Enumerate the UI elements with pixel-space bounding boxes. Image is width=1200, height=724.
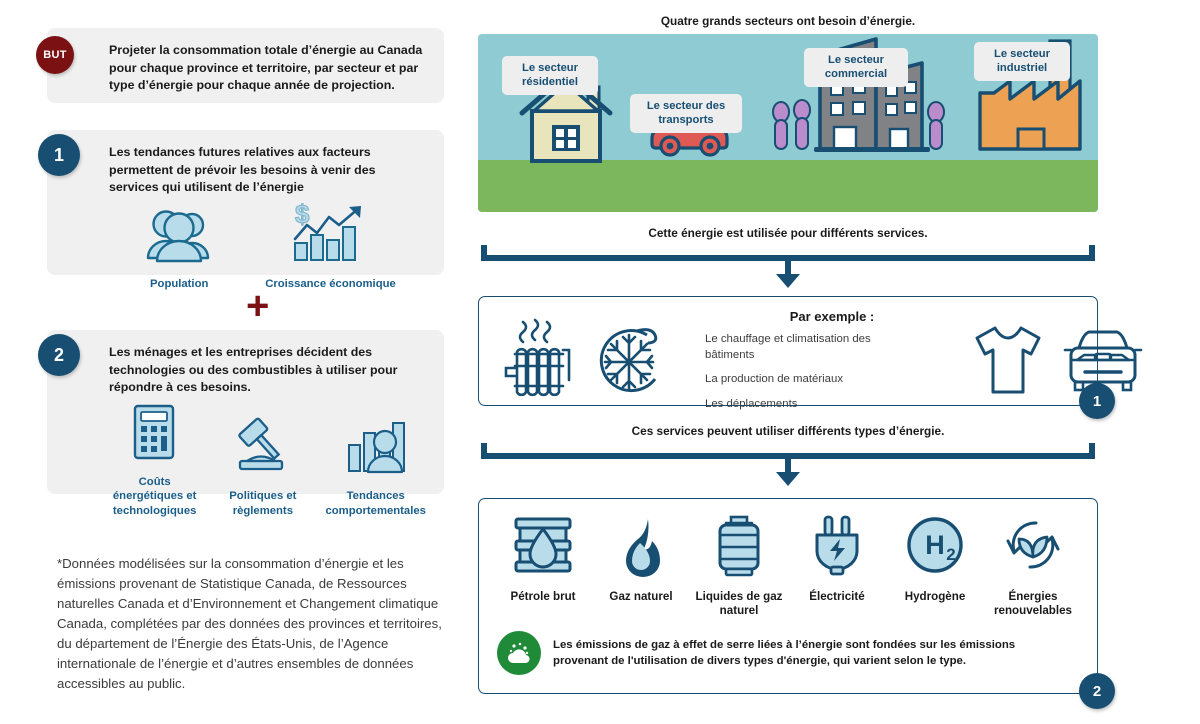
growth-caption: Croissance économique	[265, 277, 396, 291]
step2-icon-policy: Politiques et règlements	[220, 415, 305, 518]
tshirt-icon	[965, 316, 1051, 405]
step2-badge-label: 2	[54, 345, 64, 366]
sectors-caption: Quatre grands secteurs ont besoin d’éner…	[478, 14, 1098, 29]
sector-tag-industrial: Le secteur industriel	[974, 42, 1070, 81]
step1-badge-label: 1	[54, 145, 64, 166]
energy-caption: Ces services peuvent utiliser différents…	[478, 424, 1098, 439]
step2-icon-costs: Coûts énergétiques et technologiques	[109, 401, 200, 518]
costs-caption: Coûts énergétiques et technologiques	[109, 475, 200, 518]
svg-text:2: 2	[946, 545, 955, 564]
policy-caption: Politiques et règlements	[220, 489, 305, 518]
emissions-cloud-icon	[505, 639, 533, 667]
connector-1	[478, 242, 1098, 290]
example-list: Le chauffage et climatisation des bâtime…	[705, 332, 959, 412]
right-column: Quatre grands secteurs ont besoin d’éner…	[478, 0, 1200, 724]
hydrogen-icon: H 2	[904, 513, 966, 582]
step1-icon-population: Population	[139, 203, 219, 291]
left-column: Projeter la consommation totale d’énergi…	[0, 0, 470, 724]
goal-badge: BUT	[36, 36, 74, 74]
sector-tag-transport: Le secteur des transports	[630, 94, 742, 133]
economic-growth-icon: $	[287, 203, 375, 270]
natural-gas-icon	[610, 513, 672, 582]
step2-panel: Les ménages et les entreprises décident …	[47, 330, 444, 494]
ngl-icon	[708, 513, 770, 582]
electricity-label: Électricité	[809, 590, 864, 604]
renewables-label: Énergies renouvelables	[985, 590, 1081, 619]
energy-types-card: Pétrole brut Gaz naturel	[478, 498, 1098, 694]
crude-oil-icon	[512, 513, 574, 582]
sector-tag-commercial: Le secteur commercial	[804, 48, 908, 87]
step2-icon-behaviour: Tendances comportementales	[325, 415, 426, 518]
step1-panel: Les tendances futures relatives aux fact…	[47, 130, 444, 275]
energy-type-natural-gas: Gaz naturel	[593, 513, 689, 619]
energy-type-electricity: Électricité	[789, 513, 885, 619]
goal-panel: Projeter la consommation totale d’énergi…	[47, 28, 444, 103]
calculator-icon	[126, 401, 184, 468]
energy-type-hydrogen: H 2 Hydrogène	[887, 513, 983, 619]
example-item: Le chauffage et climatisation des bâtime…	[705, 332, 905, 363]
ngl-label: Liquides de gaz naturel	[691, 590, 787, 619]
example-title: Par exemple :	[705, 309, 959, 324]
svg-text:H: H	[925, 530, 945, 560]
step2-text: Les ménages et les entreprises décident …	[109, 344, 426, 397]
energy-type-renewables: Énergies renouvelables	[985, 513, 1081, 619]
emissions-step-badge: 2	[1079, 673, 1115, 709]
emissions-step-badge-label: 2	[1093, 683, 1101, 700]
natural-gas-label: Gaz naturel	[609, 590, 672, 604]
goal-text: Projeter la consommation totale d’énergi…	[109, 42, 426, 95]
renewables-icon	[1002, 513, 1064, 582]
population-icon	[139, 203, 219, 270]
example-text-block: Par exemple : Le chauffage et climatisat…	[687, 309, 959, 412]
example-card: Par exemple : Le chauffage et climatisat…	[478, 296, 1098, 406]
sectors-scene: Le secteur résidentiel Le secteur des tr…	[478, 34, 1098, 212]
goal-badge-label: BUT	[43, 49, 67, 61]
gavel-icon	[230, 415, 296, 482]
step2-badge: 2	[38, 334, 80, 376]
step1-badge: 1	[38, 134, 80, 176]
sector-tag-residential: Le secteur résidentiel	[502, 56, 598, 95]
step1-text: Les tendances futures relatives aux fact…	[109, 144, 426, 197]
hydrogen-label: Hydrogène	[905, 590, 966, 604]
example-item: Les déplacements	[705, 397, 905, 413]
connector-2	[478, 440, 1098, 488]
services-caption: Cette énergie est utilisée pour différen…	[478, 226, 1098, 241]
emissions-note-text: Les émissions de gaz à effet de serre li…	[553, 637, 1063, 669]
population-caption: Population	[150, 277, 208, 291]
example-step-badge: 1	[1079, 383, 1115, 419]
crude-oil-label: Pétrole brut	[510, 590, 575, 604]
energy-type-crude-oil: Pétrole brut	[495, 513, 591, 619]
energy-types-row: Pétrole brut Gaz naturel	[479, 499, 1097, 627]
radiator-icon	[493, 316, 579, 405]
step1-icon-growth: $ Croissance économique	[265, 203, 396, 291]
footnote-text: *Données modélisées sur la consommation …	[57, 554, 450, 694]
svg-text:$: $	[295, 203, 310, 229]
behaviour-trends-icon	[341, 415, 411, 482]
energy-type-ngl: Liquides de gaz naturel	[691, 513, 787, 619]
behaviour-caption: Tendances comportementales	[325, 489, 426, 518]
electricity-icon	[806, 513, 868, 582]
example-item: La production de matériaux	[705, 372, 905, 388]
example-step-badge-label: 1	[1093, 393, 1101, 410]
emissions-note: Les émissions de gaz à effet de serre li…	[479, 627, 1097, 685]
emissions-badge-circle	[497, 631, 541, 675]
cooling-snowflake-icon	[585, 315, 681, 406]
plus-separator: +	[246, 286, 269, 326]
infographic-page: Projeter la consommation totale d’énergi…	[0, 0, 1200, 724]
